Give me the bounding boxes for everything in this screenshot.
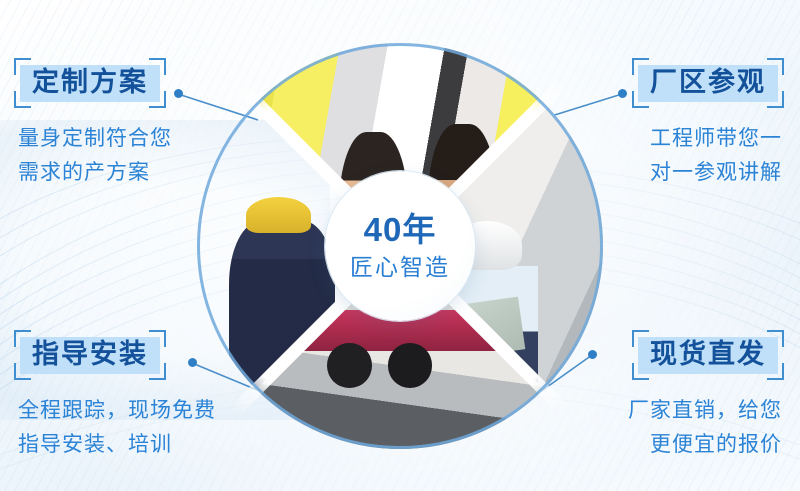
bracket-corner-icon — [14, 363, 31, 380]
bracket-corner-icon — [767, 330, 784, 347]
feature-title-box: 定制方案 — [14, 58, 166, 108]
feature-in-stock-shipping: 现货直发 厂家直销，给您 更便宜的报价 — [628, 330, 784, 462]
feature-title-highlight: 厂区参观 — [638, 65, 778, 102]
feature-title-box: 厂区参观 — [632, 58, 784, 108]
promo-banner: 40年 匠心智造 定制方案 量身定制符合您 需求的产方案 厂区参观 工程师带您一 — [0, 0, 800, 491]
bracket-corner-icon — [767, 91, 784, 108]
feature-title: 指导安装 — [32, 339, 148, 369]
bracket-corner-icon — [14, 91, 31, 108]
bracket-corner-icon — [767, 58, 784, 75]
feature-guided-installation: 指导安装 全程跟踪，现场免费 指导安装、培训 — [14, 330, 216, 462]
feature-title: 厂区参观 — [650, 67, 766, 97]
bracket-corner-icon — [632, 330, 649, 347]
bracket-corner-icon — [149, 363, 166, 380]
feature-title-highlight: 现货直发 — [638, 337, 778, 374]
feature-title: 定制方案 — [32, 67, 148, 97]
feature-description: 工程师带您一 对一参观讲解 — [632, 122, 782, 190]
feature-custom-solution: 定制方案 量身定制符合您 需求的产方案 — [14, 58, 172, 190]
central-circle-collage: 40年 匠心智造 — [197, 43, 603, 449]
bracket-corner-icon — [632, 58, 649, 75]
feature-factory-visit: 厂区参观 工程师带您一 对一参观讲解 — [632, 58, 784, 190]
feature-title-box: 现货直发 — [632, 330, 784, 380]
connector-dot-top-right — [618, 89, 627, 98]
bracket-corner-icon — [149, 330, 166, 347]
feature-title-highlight: 定制方案 — [20, 65, 160, 102]
bracket-corner-icon — [14, 58, 31, 75]
center-badge: 40年 匠心智造 — [325, 171, 475, 321]
bracket-corner-icon — [149, 91, 166, 108]
feature-description: 全程跟踪，现场免费 指导安装、培训 — [18, 394, 216, 462]
feature-title-highlight: 指导安装 — [20, 337, 160, 374]
center-subline: 匠心智造 — [350, 256, 450, 279]
center-headline: 40年 — [364, 213, 437, 246]
bracket-corner-icon — [767, 363, 784, 380]
bracket-corner-icon — [632, 363, 649, 380]
bracket-corner-icon — [149, 58, 166, 75]
connector-dot-top-left — [174, 89, 183, 98]
feature-title-box: 指导安装 — [14, 330, 166, 380]
feature-description: 量身定制符合您 需求的产方案 — [18, 122, 172, 190]
bracket-corner-icon — [632, 91, 649, 108]
feature-description: 厂家直销，给您 更便宜的报价 — [628, 394, 782, 462]
bracket-corner-icon — [14, 330, 31, 347]
feature-title: 现货直发 — [650, 339, 766, 369]
